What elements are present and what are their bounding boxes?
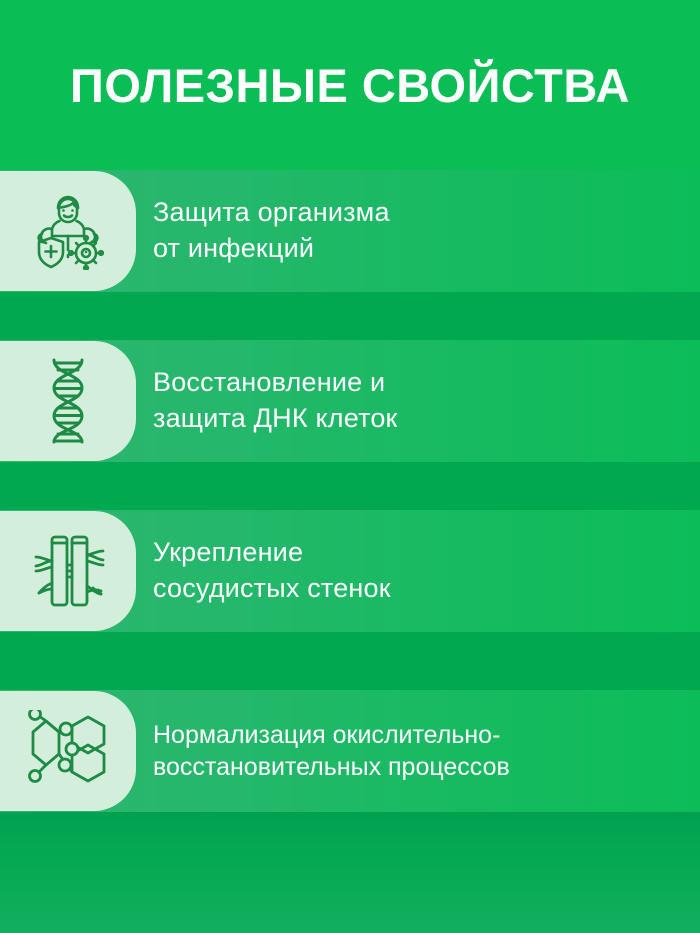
feature-row-vessels[interactable]: Укрепление сосудистых стенок xyxy=(0,510,700,632)
feature-text-1-line-2: от инфекций xyxy=(153,231,690,267)
icon-pill-3 xyxy=(0,511,136,631)
icon-pill-4 xyxy=(0,691,136,811)
feature-row-molecule[interactable]: Нормализация окислительно- восстановител… xyxy=(0,690,700,812)
feature-text-4-line-1: Нормализация окислительно- xyxy=(153,719,690,752)
immunity-shield-virus-icon xyxy=(28,192,108,270)
features-list: Защита организма от инфекций xyxy=(0,170,700,933)
dna-helix-icon xyxy=(39,357,97,445)
feature-row-dna[interactable]: Восстановление и защита ДНК клеток xyxy=(0,340,700,462)
icon-pill-2 xyxy=(0,341,136,461)
feature-text-3-line-1: Укрепление xyxy=(153,535,690,571)
feature-text-1: Защита организма от инфекций xyxy=(136,195,700,266)
page-title: ПОЛЕЗНЫЕ СВОЙСТВА xyxy=(70,62,630,109)
feature-text-1-line-1: Защита организма xyxy=(153,195,690,231)
feature-text-2-line-2: защита ДНК клеток xyxy=(153,401,690,437)
feature-text-3: Укрепление сосудистых стенок xyxy=(136,535,700,606)
icon-pill-1 xyxy=(0,171,136,291)
feature-text-2-line-1: Восстановление и xyxy=(153,365,690,401)
header-banner: ПОЛЕЗНЫЕ СВОЙСТВА xyxy=(0,0,700,170)
feature-row-immunity[interactable]: Защита организма от инфекций xyxy=(0,170,700,292)
feature-text-3-line-2: сосудистых стенок xyxy=(153,571,690,607)
feature-text-4: Нормализация окислительно- восстановител… xyxy=(136,719,700,784)
infographic-card: ПОЛЕЗНЫЕ СВОЙСТВА xyxy=(0,0,700,933)
blood-vessels-icon xyxy=(27,531,109,611)
feature-text-2: Восстановление и защита ДНК клеток xyxy=(136,365,700,436)
feature-text-4-line-2: восстановительных процессов xyxy=(153,751,690,784)
molecule-rings-icon xyxy=(26,710,110,792)
